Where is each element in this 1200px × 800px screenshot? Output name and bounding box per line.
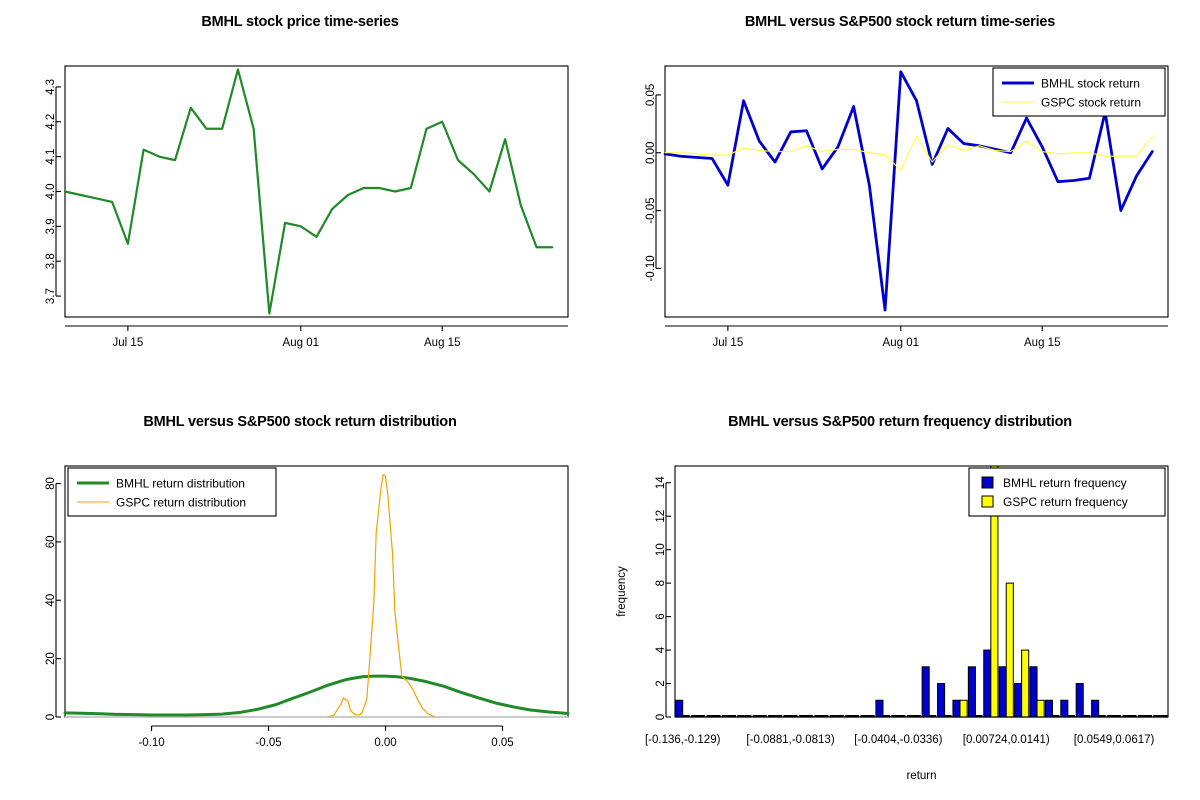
x-axis: Jul 15Aug 01Aug 15	[665, 326, 1168, 349]
y-tick-label: 40	[45, 594, 57, 607]
y-axis: 02468101214frequency	[616, 476, 671, 720]
legend-return-distribution: BMHL return distributionGSPC return dist…	[68, 468, 276, 516]
x-tick-label: Aug 01	[283, 337, 319, 349]
y-axis-title: frequency	[616, 566, 628, 617]
x-tick-label: Aug 01	[883, 337, 919, 349]
bar-bmhl-frequency	[999, 667, 1006, 717]
x-tick-label: [0.00724,0.0141)	[963, 734, 1050, 746]
legend-entry-label: BMHL return distribution	[116, 477, 245, 491]
x-tick-label: Jul 15	[113, 337, 144, 349]
y-tick-label: -0.10	[645, 255, 657, 281]
y-tick-label: 14	[655, 476, 667, 489]
chart-bmhl-gspc-return-time-series: -0.10-0.050.000.05Jul 15Aug 01Aug 15BMHL…	[600, 0, 1200, 400]
bar-gspc-frequency	[960, 700, 967, 717]
chart-bmhl-gspc-return-frequency: 02468101214frequency[-0.136,-0.129)[-0.0…	[600, 400, 1200, 800]
y-tick-label: 4.3	[45, 79, 57, 95]
bar-bmhl-frequency	[953, 700, 960, 717]
legend-return-frequency: BMHL return frequencyGSPC return frequen…	[969, 468, 1165, 516]
x-tick-label: [-0.0404,-0.0336)	[854, 734, 942, 746]
legend-swatch-square	[982, 496, 993, 507]
chart-bmhl-price-time-series: 3.73.83.94.04.14.24.3Jul 15Aug 01Aug 15	[0, 0, 600, 400]
x-axis: Jul 15Aug 01Aug 15	[65, 326, 568, 349]
bar-bmhl-frequency	[968, 667, 975, 717]
y-tick-label: 3.9	[45, 218, 57, 234]
y-tick-label: 20	[45, 652, 57, 665]
x-tick-label: Aug 15	[1024, 337, 1060, 349]
bar-bmhl-frequency	[1045, 700, 1052, 717]
y-tick-label: 60	[45, 535, 57, 548]
plot-frame	[65, 66, 568, 317]
x-tick-label: [0.0549,0.0617)	[1074, 734, 1155, 746]
x-tick-label: [-0.136,-0.129)	[645, 734, 721, 746]
y-axis: 3.73.83.94.04.14.24.3	[45, 79, 61, 304]
line-gspc-stock-return	[665, 137, 1152, 171]
y-tick-label: 4	[655, 646, 667, 653]
y-tick-label: 4.0	[45, 184, 57, 200]
y-tick-label: -0.05	[645, 197, 657, 223]
line-bmhl-stock-price	[65, 69, 552, 313]
x-axis: [-0.136,-0.129)[-0.0881,-0.0813)[-0.0404…	[645, 717, 1168, 782]
y-tick-label: 12	[655, 510, 667, 523]
legend-entry-label: BMHL return frequency	[1003, 476, 1127, 490]
y-tick-label: 3.8	[45, 253, 57, 269]
panel-bmhl-price-time-series: BMHL stock price time-series 3.73.83.94.…	[0, 0, 600, 400]
x-tick-label: Aug 15	[424, 337, 460, 349]
y-tick-label: 6	[655, 613, 667, 619]
legend-return-time-series: BMHL stock returnGSPC stock return	[993, 68, 1165, 116]
x-tick-label: -0.10	[138, 737, 164, 749]
y-tick-label: 80	[45, 477, 57, 490]
x-axis: -0.10-0.050.000.05	[138, 726, 513, 749]
line-bmhl-return-density	[65, 676, 568, 715]
bar-bmhl-frequency	[1061, 700, 1068, 717]
panel-bmhl-gspc-return-frequency: BMHL versus S&P500 return frequency dist…	[600, 400, 1200, 800]
y-tick-label: 4.2	[45, 114, 57, 130]
bar-bmhl-frequency	[938, 684, 945, 717]
y-axis: 020406080	[45, 477, 61, 720]
panel-bmhl-gspc-return-density: BMHL versus S&P500 stock return distribu…	[0, 400, 600, 800]
y-tick-label: 8	[655, 580, 667, 586]
y-tick-label: 0	[655, 714, 667, 720]
bar-bmhl-frequency	[1076, 684, 1083, 717]
y-tick-label: 10	[655, 543, 667, 556]
bar-bmhl-frequency	[676, 700, 683, 717]
legend-entry-label: GSPC stock return	[1041, 96, 1141, 110]
y-tick-label: 4.1	[45, 149, 57, 165]
legend-entry-label: GSPC return frequency	[1003, 495, 1128, 509]
y-tick-label: 2	[655, 680, 667, 686]
bar-bmhl-frequency	[1030, 667, 1037, 717]
bar-bmhl-frequency	[1015, 684, 1022, 717]
legend-entry-label: GSPC return distribution	[116, 496, 246, 510]
chart-bmhl-gspc-return-density: 020406080-0.10-0.050.000.05BMHL return d…	[0, 400, 600, 800]
y-axis: -0.10-0.050.000.05	[645, 84, 661, 282]
y-tick-label: 0.05	[645, 84, 657, 106]
y-tick-label: 0.00	[645, 142, 657, 164]
bar-bmhl-frequency	[984, 650, 991, 717]
x-tick-label: 0.05	[491, 737, 513, 749]
bar-gspc-frequency	[1022, 650, 1029, 717]
x-tick-label: 0.00	[374, 737, 396, 749]
bar-bmhl-frequency	[922, 667, 929, 717]
y-tick-label: 0	[45, 714, 57, 720]
y-tick-label: 3.7	[45, 288, 57, 304]
legend-swatch-square	[982, 477, 993, 488]
x-axis-title: return	[906, 770, 936, 782]
x-tick-label: Jul 15	[713, 337, 744, 349]
x-tick-label: -0.05	[255, 737, 281, 749]
bar-bmhl-frequency	[1092, 700, 1099, 717]
panel-bmhl-gspc-return-time-series: BMHL versus S&P500 stock return time-ser…	[600, 0, 1200, 400]
bar-gspc-frequency	[1006, 583, 1013, 717]
bar-gspc-frequency	[1037, 700, 1044, 717]
plot-page: BMHL stock price time-series 3.73.83.94.…	[0, 0, 1200, 800]
x-tick-label: [-0.0881,-0.0813)	[746, 734, 834, 746]
bar-bmhl-frequency	[876, 700, 883, 717]
legend-entry-label: BMHL stock return	[1041, 77, 1140, 91]
